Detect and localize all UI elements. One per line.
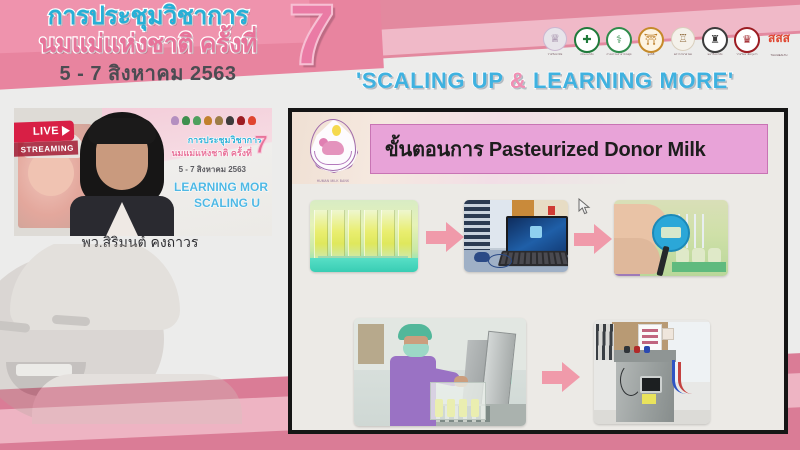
bottle-column: [314, 210, 328, 258]
bottle-column: [348, 210, 362, 258]
photo-nurse-loading-pasteurizer: [354, 318, 526, 426]
live-badge-sub-label: STREAMING: [20, 143, 74, 154]
arrow-right-3: [542, 362, 580, 392]
machine-knob-blue: [644, 346, 650, 353]
royal-crest-caption: มูลนิธิ: [638, 53, 664, 57]
photo-laptop-workstation: [464, 200, 568, 272]
machine-control-display: [640, 376, 662, 393]
royal-crest-icon: ⛩: [638, 27, 664, 53]
royal-crest-logo: ⛩ มูลนิธิ: [638, 27, 664, 57]
inset-tagline-line1: LEARNING MOR: [174, 180, 268, 194]
tagline-ampersand: &: [510, 68, 527, 93]
machine-power-cable: [620, 364, 642, 396]
sign-text-lines: [642, 329, 658, 332]
conference-tagline: 'SCALING UP & LEARNING MORE': [356, 70, 792, 92]
ministry-health-caption: กรมอนามัย: [574, 53, 600, 57]
inset-edition-number: 7: [254, 133, 268, 158]
wall-pipes: [596, 324, 614, 360]
instruction-sign: [638, 324, 662, 352]
red-crest-logo: ♛ ราชวิทยาลัยกุมาร: [734, 27, 760, 57]
watermark-baby-hat: [10, 244, 180, 330]
public-health-icon: ⚕: [606, 27, 632, 53]
inset-dates: 5 - 7 สิงหาคม 2563: [179, 163, 246, 176]
timer-display: [661, 227, 681, 238]
red-crest-caption: ราชวิทยาลัยกุมาร: [734, 53, 760, 57]
watermark-baby-body: [32, 374, 242, 424]
arrow-right-2: [574, 224, 612, 254]
royal-emblem-caption: สภากาชาดไทย: [670, 53, 696, 57]
bottle-column: [364, 210, 378, 258]
inset-speaker: [62, 108, 182, 236]
slide-title-band: ขั้นตอนการ Pasteurized Donor Milk: [370, 124, 768, 174]
conference-title-line2: นมแม่แห่งชาติ ครั้งที่: [14, 32, 282, 57]
conference-dates: 5 - 7 สิงหาคม 2563: [14, 64, 282, 84]
play-icon: [62, 126, 70, 136]
human-milk-bank-logo: HUMAN MILK BANK: [302, 117, 364, 183]
university-seal-logo: ♜ มหาวิทยาลัย: [702, 27, 728, 57]
crate-bottle: [435, 399, 443, 417]
inset-logo-2: [182, 116, 190, 125]
milk-drop-highlight: [332, 125, 341, 136]
inset-backdrop-logos: [171, 116, 256, 125]
logo-caption: HUMAN MILK BANK: [300, 179, 366, 183]
background-baby-watermark: [0, 244, 256, 424]
arrow-shaft: [426, 231, 448, 244]
photo-digital-thermometer: [614, 200, 728, 276]
tray-rod: [694, 214, 696, 248]
crate-bottle: [459, 399, 467, 417]
mouse-cursor: [578, 198, 592, 216]
conference-title-line1: การประชุมวิชาการ: [14, 4, 282, 29]
inset-title-line2: นมแม่แห่งชาติ ครั้งที่: [171, 146, 252, 160]
bottle-rack: [314, 210, 412, 258]
inset-logo-3: [193, 116, 201, 125]
university-seal-icon: ♜: [702, 27, 728, 53]
thaihealth-icon: สสส: [768, 27, 790, 49]
ministry-health-icon: ✚: [574, 27, 600, 53]
tray-rod: [702, 214, 704, 248]
arrow-right-1: [426, 222, 464, 252]
wall-blinds: [464, 200, 490, 250]
mouse-cord: [488, 254, 512, 268]
organization-logo-strip: ♕ ราชวิทยาลัย ✚ กรมอนามัย ⚕ กระทรวงสาธาร…: [542, 27, 792, 57]
cursor-arrow-icon: [578, 198, 592, 216]
machine-red-hose: [678, 362, 699, 394]
hand-lower: [614, 238, 660, 274]
tagline-part2: LEARNING MORE': [526, 68, 733, 93]
conference-edition-number: 7: [288, 0, 336, 78]
public-health-caption: กระทรวงสาธารณสุข: [606, 53, 632, 57]
bottle-crate: [430, 382, 486, 420]
live-video-inset[interactable]: การประชุมวิชาการ นมแม่แห่งชาติ ครั้งที่ …: [14, 108, 272, 236]
red-crest-icon: ♛: [734, 27, 760, 53]
royal-patronage-logo: ♕ ราชวิทยาลัย: [542, 27, 568, 57]
inset-logo-7: [237, 116, 245, 125]
screen-root: การประชุมวิชาการ นมแม่แห่งชาติ ครั้งที่ …: [0, 0, 800, 450]
tagline-part1: 'SCALING UP: [356, 68, 510, 93]
thaihealth-caption: THAIHEALTH: [766, 54, 792, 57]
ministry-health-logo: ✚ กรมอนามัย: [574, 27, 600, 57]
digital-timer-icon: [652, 214, 690, 252]
presentation-slide: HUMAN MILK BANK ขั้นตอนการ Pasteurized D…: [288, 108, 788, 434]
arrow-head: [446, 222, 464, 252]
bottle-column: [381, 210, 395, 258]
inset-logo-4: [204, 116, 212, 125]
inset-logo-5: [215, 116, 223, 125]
screen-window-icon: [530, 226, 542, 238]
speaker-bangs: [88, 118, 156, 144]
inset-title-line1: การประชุมวิชาการ: [188, 133, 262, 147]
inset-logo-6: [226, 116, 234, 125]
machine-knob-red: [634, 346, 640, 353]
bottle-column: [331, 210, 345, 258]
public-health-logo: ⚕ กระทรวงสาธารณสุข: [606, 27, 632, 57]
royal-patronage-icon: ♕: [543, 27, 567, 51]
rack-floor: [310, 258, 418, 272]
inset-tagline-line2: SCALING U: [194, 196, 260, 210]
thaihealth-logo: สสส THAIHEALTH: [766, 27, 792, 57]
photo-milk-bottle-rack: [310, 200, 418, 272]
arrow-head: [594, 224, 612, 254]
photo-pasteurizer-machine: [594, 320, 710, 424]
arrow-shaft: [542, 371, 564, 384]
wall-poster: [548, 206, 555, 215]
crate-bottle: [447, 399, 455, 417]
arrow-head: [562, 362, 580, 392]
university-seal-caption: มหาวิทยาลัย: [702, 53, 728, 57]
royal-emblem-icon: ♖: [671, 27, 695, 51]
crate-bottle: [471, 399, 479, 417]
small-wall-sign: [662, 328, 674, 340]
live-badge-label: LIVE: [33, 125, 59, 138]
nurse-face-mask: [403, 344, 429, 357]
arrow-shaft: [574, 233, 596, 246]
machine-label-sticker: [642, 394, 656, 404]
tray-base: [672, 262, 726, 272]
wall-cabinet: [358, 324, 384, 364]
royal-patronage-caption: ราชวิทยาลัย: [542, 53, 568, 57]
machine-knob-black: [624, 346, 630, 353]
conference-title: การประชุมวิชาการ นมแม่แห่งชาติ ครั้งที่ …: [14, 4, 282, 84]
royal-emblem-logo: ♖ สภากาชาดไทย: [670, 27, 696, 57]
bottle-column: [398, 210, 412, 258]
inset-logo-8: [248, 116, 256, 125]
slide-title: ขั้นตอนการ Pasteurized Donor Milk: [371, 133, 706, 165]
